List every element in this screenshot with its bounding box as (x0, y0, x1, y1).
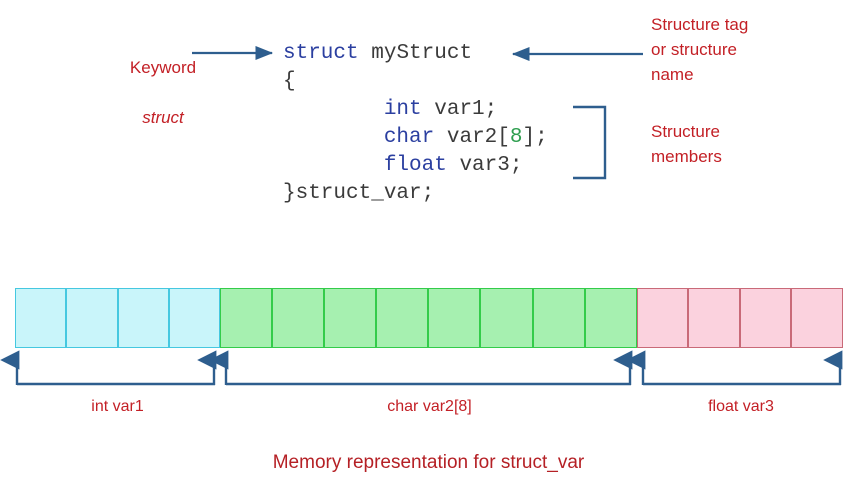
code-token-plain (434, 126, 447, 149)
bracket-float-var3 (643, 360, 841, 385)
bracket-char-var2 (226, 360, 631, 385)
memory-cell (637, 288, 689, 348)
code-indent (283, 154, 384, 177)
code-token-id: myStruct (371, 42, 472, 65)
memory-bar (15, 288, 843, 348)
code-token-plain (422, 98, 435, 121)
code-block: struct myStruct{ int var1; char var2[8];… (283, 40, 548, 208)
code-token-plain (359, 42, 372, 65)
code-token-kw: int (384, 98, 422, 121)
code-token-plain (447, 154, 460, 177)
code-token-id: }struct_var; (283, 182, 434, 205)
bracket-structure-members (573, 107, 605, 178)
code-line: int var1; (283, 96, 548, 124)
memory-cell (324, 288, 376, 348)
memory-cell (272, 288, 324, 348)
memory-cell (480, 288, 532, 348)
code-line: float var3; (283, 152, 548, 180)
code-indent (283, 98, 384, 121)
diagram-canvas: Keyword struct Structure tag or structur… (0, 0, 857, 488)
memory-cell (585, 288, 637, 348)
code-token-kw: float (384, 154, 447, 177)
memory-cell (66, 288, 117, 348)
memory-cell (220, 288, 272, 348)
code-line: struct myStruct (283, 40, 548, 68)
bracket-int-var1 (17, 360, 215, 385)
annotation-keyword-line2: struct (78, 105, 248, 130)
figure-caption: Memory representation for struct_var (0, 452, 857, 474)
field-label-float-var3: float var3 (639, 398, 843, 416)
code-line: }struct_var; (283, 180, 548, 208)
code-token-id: ]; (522, 126, 547, 149)
memory-cell (15, 288, 66, 348)
field-label-int-var1: int var1 (15, 398, 220, 416)
memory-cell (533, 288, 585, 348)
memory-cell (169, 288, 220, 348)
code-token-id: var2[ (447, 126, 510, 149)
memory-cell (376, 288, 428, 348)
code-token-num: 8 (510, 126, 523, 149)
memory-cell (791, 288, 843, 348)
memory-cell (688, 288, 740, 348)
code-indent (283, 126, 384, 149)
code-token-id: var3; (459, 154, 522, 177)
annotation-keyword-line1: Keyword (78, 55, 248, 80)
memory-cell (740, 288, 792, 348)
code-token-kw: char (384, 126, 434, 149)
code-token-id: { (283, 70, 296, 93)
annotation-keyword-struct: Keyword struct (78, 30, 248, 155)
memory-cell (428, 288, 480, 348)
code-line: char var2[8]; (283, 124, 548, 152)
annotation-structure-members: Structure members (651, 119, 841, 169)
code-line: { (283, 68, 548, 96)
memory-cell (118, 288, 169, 348)
annotation-structure-tag: Structure tag or structure name (651, 12, 851, 87)
code-token-kw: struct (283, 42, 359, 65)
field-label-char-var2: char var2[8] (222, 398, 637, 416)
code-token-id: var1; (434, 98, 497, 121)
